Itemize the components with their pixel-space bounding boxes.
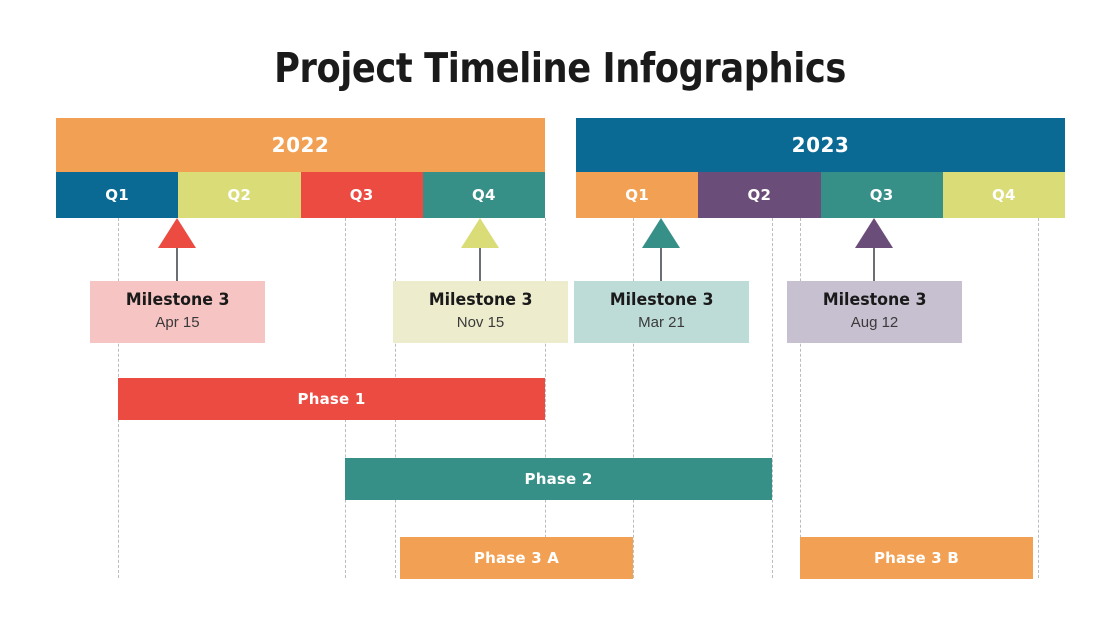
- milestone-marker-triangle-icon: [461, 218, 499, 248]
- milestone-date: Aug 12: [851, 313, 899, 333]
- milestone-title: Milestone 3: [429, 291, 533, 310]
- quarter-row-2023: Q1Q2Q3Q4: [576, 172, 1065, 218]
- milestone-date: Mar 21: [638, 313, 685, 333]
- year-label-2022[interactable]: 2022: [56, 118, 545, 172]
- guide-line: [772, 218, 773, 578]
- quarter-2023-Q3[interactable]: Q3: [821, 172, 943, 218]
- milestone-card[interactable]: Milestone 3Aug 12: [787, 281, 962, 343]
- milestone-card[interactable]: Milestone 3Mar 21: [574, 281, 749, 343]
- infographic-canvas: Project Timeline Infographics 2022Q1Q2Q3…: [0, 0, 1120, 630]
- phase-bar[interactable]: Phase 3 B: [800, 537, 1033, 579]
- milestone-date: Apr 15: [155, 313, 199, 333]
- milestone-card[interactable]: Milestone 3Nov 15: [393, 281, 568, 343]
- milestone-title: Milestone 3: [126, 291, 230, 310]
- page-title: Project Timeline Infographics: [78, 44, 1041, 92]
- quarter-2022-Q3[interactable]: Q3: [301, 172, 423, 218]
- guide-line: [1038, 218, 1039, 578]
- guide-line: [545, 218, 546, 578]
- milestone-title: Milestone 3: [823, 291, 927, 310]
- milestone-date: Nov 15: [457, 313, 505, 333]
- milestone-marker-triangle-icon: [642, 218, 680, 248]
- milestone-marker-triangle-icon: [158, 218, 196, 248]
- guide-line: [633, 218, 634, 578]
- phase-bar[interactable]: Phase 1: [118, 378, 545, 420]
- milestone-marker-triangle-icon: [855, 218, 893, 248]
- phase-bar[interactable]: Phase 2: [345, 458, 772, 500]
- quarter-2023-Q4[interactable]: Q4: [943, 172, 1065, 218]
- milestone-title: Milestone 3: [610, 291, 714, 310]
- guide-line: [800, 218, 801, 578]
- quarter-2023-Q2[interactable]: Q2: [698, 172, 820, 218]
- phase-bar[interactable]: Phase 3 A: [400, 537, 633, 579]
- year-label-2023[interactable]: 2023: [576, 118, 1065, 172]
- milestone-card[interactable]: Milestone 3Apr 15: [90, 281, 265, 343]
- quarter-2022-Q1[interactable]: Q1: [56, 172, 178, 218]
- quarter-2022-Q2[interactable]: Q2: [178, 172, 300, 218]
- quarter-2023-Q1[interactable]: Q1: [576, 172, 698, 218]
- quarter-row-2022: Q1Q2Q3Q4: [56, 172, 545, 218]
- quarter-2022-Q4[interactable]: Q4: [423, 172, 545, 218]
